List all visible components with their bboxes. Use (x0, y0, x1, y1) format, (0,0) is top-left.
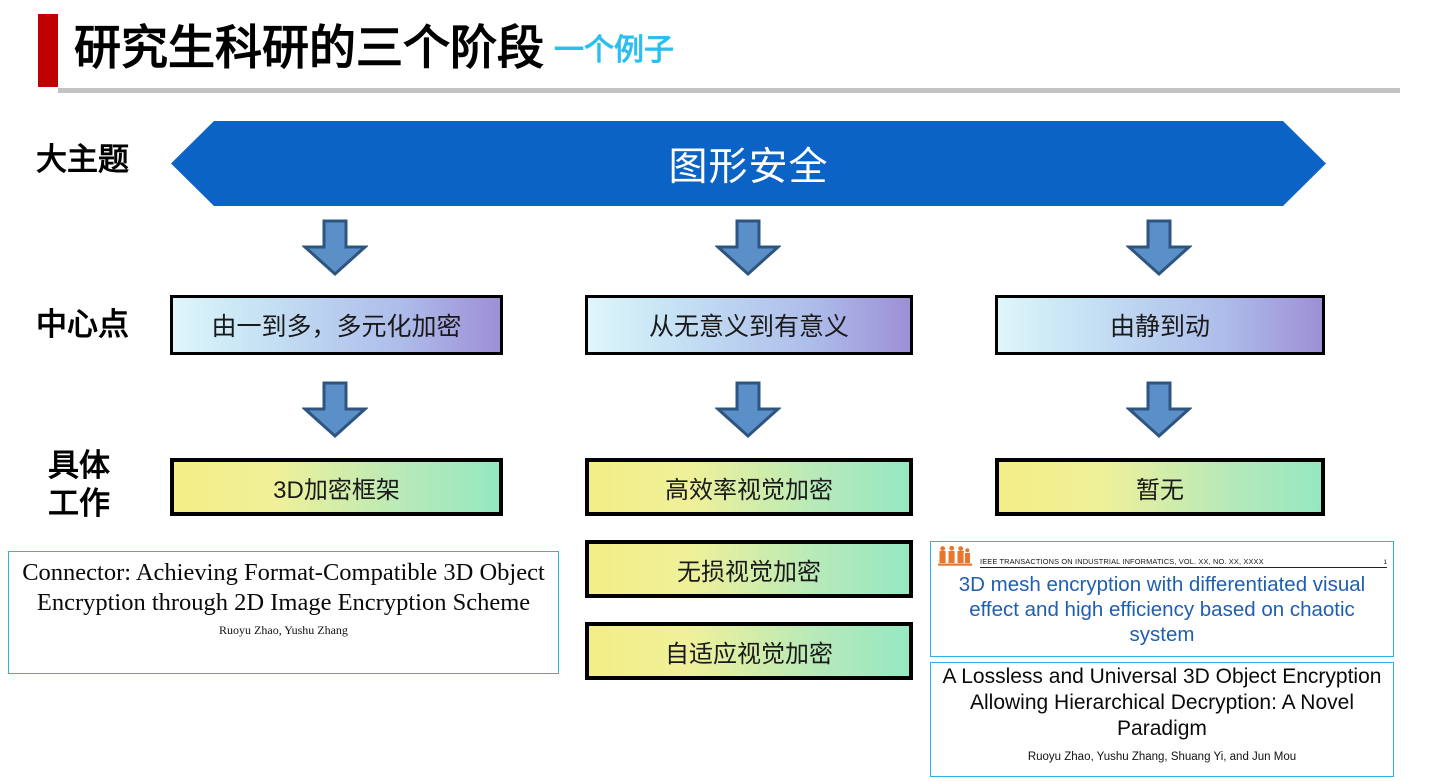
header-divider (58, 88, 1400, 93)
work-box-label-col2-item3: 自适应视觉加密 (665, 634, 833, 669)
tii-journal-line: IEEE TRANSACTIONS ON INDUSTRIAL INFORMAT… (980, 557, 1264, 566)
down-arrow-icon-col1-bottom (302, 381, 368, 439)
down-arrow-icon-col2-top (715, 219, 781, 277)
work-box-col2-item3: 自适应视觉加密 (585, 622, 913, 680)
tii-page-number: 1 (1383, 559, 1387, 566)
paper-card-tii[interactable]: IEEE TRANSACTIONS ON INDUSTRIAL INFORMAT… (930, 541, 1394, 657)
paper-card-lossless[interactable]: A Lossless and Universal 3D Object Encry… (930, 662, 1394, 777)
work-box-col2-item2: 无损视觉加密 (585, 540, 913, 598)
center-point-label-col1: 由一到多，多元化加密 (211, 307, 461, 343)
center-point-box-col1: 由一到多，多元化加密 (170, 295, 503, 355)
center-point-box-col2: 从无意义到有意义 (585, 295, 913, 355)
down-arrow-icon-col1-top (302, 219, 368, 277)
row-label-big-topic: 大主题 (36, 141, 129, 179)
paper-lossless-title: A Lossless and Universal 3D Object Encry… (933, 664, 1391, 742)
page-title: 研究生科研的三个阶段一个例子 (74, 12, 674, 87)
slide-header: 研究生科研的三个阶段一个例子 (0, 0, 1447, 100)
center-point-label-col2: 从无意义到有意义 (649, 307, 849, 343)
work-box-label-col2-item2: 无损视觉加密 (677, 552, 821, 587)
tii-header-text: IEEE TRANSACTIONS ON INDUSTRIAL INFORMAT… (980, 557, 1387, 568)
work-box-col1-item1: 3D加密框架 (170, 458, 503, 516)
tii-header-row: IEEE TRANSACTIONS ON INDUSTRIAL INFORMAT… (931, 542, 1393, 568)
page-subtitle: 一个例子 (554, 34, 674, 67)
row-label-concrete-work: 具体 工作 (48, 447, 110, 523)
work-box-label-col1-item1: 3D加密框架 (273, 470, 400, 505)
topic-banner-label: 图形安全 (668, 136, 828, 192)
page-title-text: 研究生科研的三个阶段 (74, 21, 544, 74)
paper-connector-title: Connector: Achieving Format-Compatible 3… (13, 558, 554, 618)
work-box-col2-item1: 高效率视觉加密 (585, 458, 913, 516)
center-point-box-col3: 由静到动 (995, 295, 1325, 355)
work-box-col3-item1: 暂无 (995, 458, 1325, 516)
title-accent-bar (38, 14, 58, 87)
ieee-tii-logo-icon (937, 546, 973, 568)
topic-banner: 图形安全 (171, 121, 1326, 206)
center-point-label-col3: 由静到动 (1110, 307, 1210, 343)
paper-lossless-authors: Ruoyu Zhao, Yushu Zhang, Shuang Yi, and … (933, 751, 1391, 763)
paper-tii-title: 3D mesh encryption with differentiated v… (931, 568, 1393, 647)
down-arrow-icon-col3-top (1126, 219, 1192, 277)
work-box-label-col2-item1: 高效率视觉加密 (665, 470, 833, 505)
paper-connector-authors: Ruoyu Zhao, Yushu Zhang (13, 623, 554, 638)
down-arrow-icon-col2-bottom (715, 381, 781, 439)
paper-card-connector[interactable]: Connector: Achieving Format-Compatible 3… (8, 551, 559, 674)
work-box-label-col3-item1: 暂无 (1136, 470, 1184, 505)
row-label-center-point: 中心点 (36, 306, 129, 344)
down-arrow-icon-col3-bottom (1126, 381, 1192, 439)
